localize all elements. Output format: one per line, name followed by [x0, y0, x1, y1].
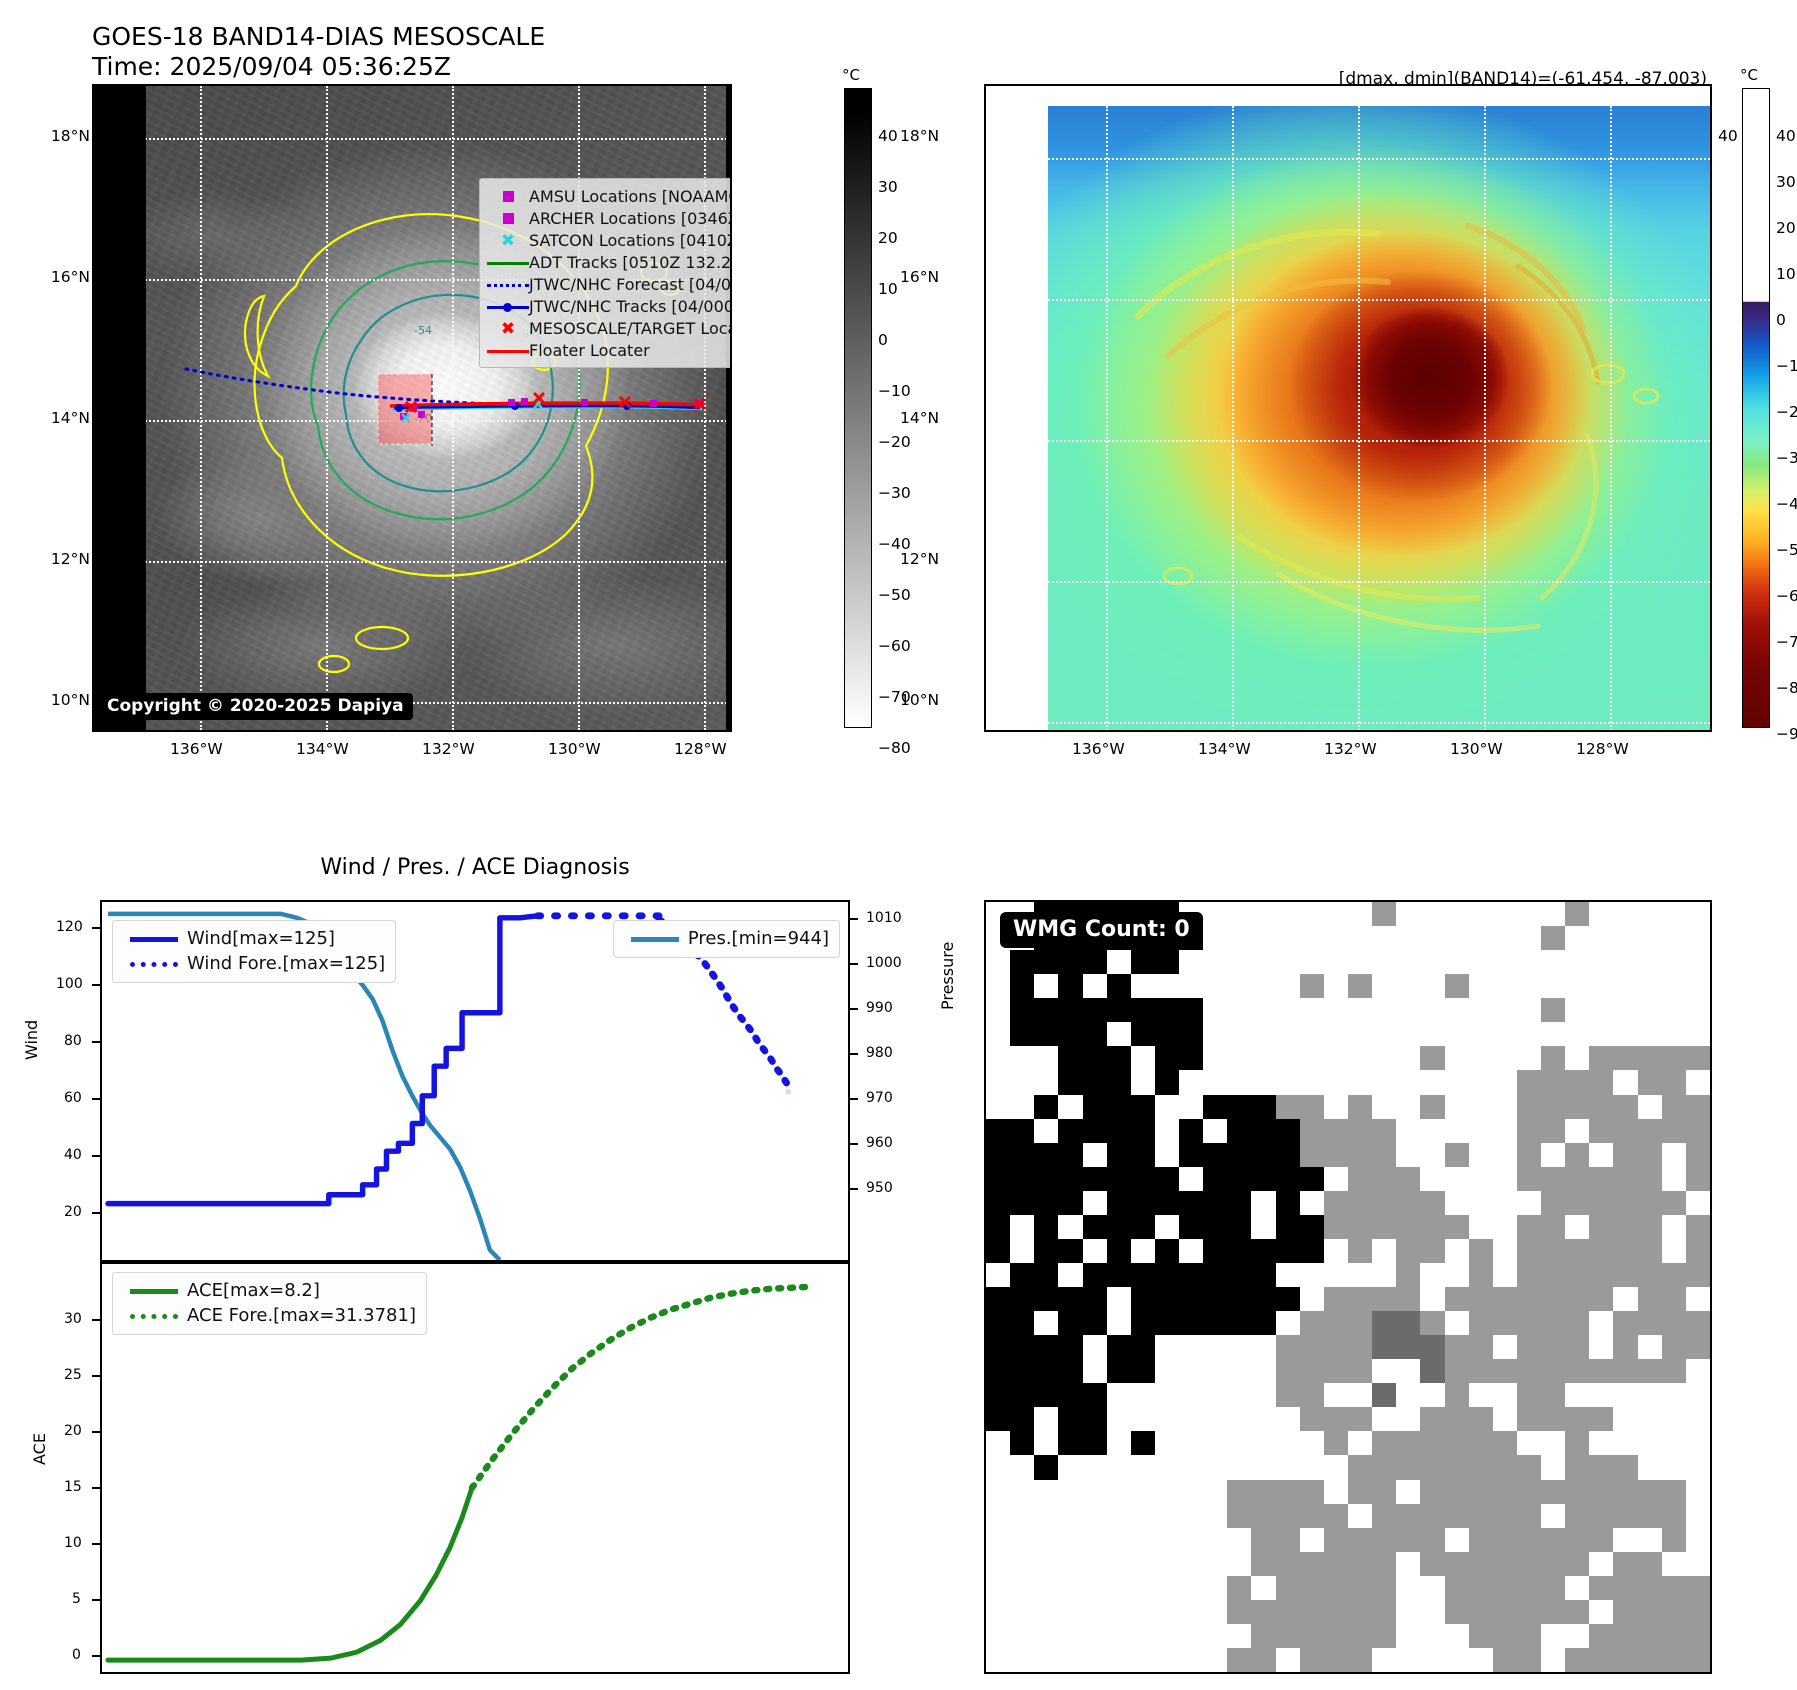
- colorbar1-unit: °C: [842, 66, 860, 84]
- p3-rtick-1000: [850, 963, 858, 965]
- p2-graticule-lon-134: [1232, 106, 1234, 732]
- legend-item-adt[interactable]: ADT Tracks [0510Z 132.2 935.3]: [487, 251, 732, 273]
- cb1-tick-m50: −50: [878, 586, 911, 604]
- dashboard-root: GOES-18 BAND14-DIAS MESOSCALE Time: 2025…: [0, 0, 1797, 1690]
- panel1-title-line1: GOES-18 BAND14-DIAS MESOSCALE: [92, 22, 545, 51]
- pressure-axis-label: Pressure: [938, 942, 957, 1010]
- p1-lon-136: 136°W: [170, 740, 223, 758]
- cb1-tick-m60: −60: [878, 637, 911, 655]
- p2-lat-16: 16°N: [900, 268, 939, 286]
- p2-lat-18: 18°N: [900, 127, 939, 145]
- p3-lbl-120: 120: [56, 919, 83, 935]
- wmg-count-badge: WMG Count: 0: [1000, 912, 1203, 948]
- legend-label-archer: ARCHER Locations [0346Z]: [529, 207, 732, 229]
- p2-graticule-lat-12: [1048, 581, 1712, 583]
- enhanced-ir-image: [1048, 106, 1712, 732]
- p3-rlbl-950: 950: [866, 1180, 893, 1196]
- p1-lon-132: 132°W: [422, 740, 475, 758]
- p3-lbl-20: 20: [64, 1204, 82, 1220]
- wmg-grid-panel[interactable]: WMG Count: 0: [984, 900, 1712, 1674]
- p3-rtick-990: [850, 1008, 858, 1010]
- p1-lat-16: 16°N: [51, 268, 90, 286]
- p4-lbl-0: 0: [72, 1647, 81, 1663]
- p4-tick-30: [92, 1319, 100, 1321]
- cb1-tick-m20: −20: [878, 433, 911, 451]
- legend-label-wind: Wind[max=125]: [187, 926, 385, 951]
- cb2-tick-m40: −40: [1776, 495, 1797, 513]
- p1-lat-10: 10°N: [51, 691, 90, 709]
- cb2-tick-m60: −60: [1776, 587, 1797, 605]
- goes-ir-map-panel[interactable]: -54 -64 -70: [92, 84, 732, 732]
- p4-lbl-20: 20: [64, 1423, 82, 1439]
- wind-legend[interactable]: Wind[max=125] Wind Fore.[max=125]: [112, 920, 396, 983]
- legend-label-pressure: Pres.[min=944]: [688, 926, 829, 951]
- panel1-title-line2: Time: 2025/09/04 05:36:25Z: [92, 52, 451, 81]
- p2-lon-136: 136°W: [1072, 740, 1125, 758]
- legend-label-jtwc-tracks: JTWC/NHC Tracks [04/0000Z]: [529, 295, 732, 317]
- x-marker-icon: ✖: [501, 319, 515, 339]
- ace-chart[interactable]: ACE[max=8.2] ACE Fore.[max=31.3781]: [100, 1262, 850, 1674]
- cb2-tick-20: 20: [1776, 219, 1796, 237]
- legend-label-adt: ADT Tracks [0510Z 132.2 935.3]: [529, 251, 732, 273]
- legend-item-pressure[interactable]: Pres.[min=944]: [622, 926, 829, 951]
- copyright-badge: Copyright © 2020-2025 Dapiya: [98, 693, 413, 720]
- legend-item-wind[interactable]: Wind[max=125]: [121, 926, 385, 951]
- p1-lat-18: 18°N: [51, 127, 90, 145]
- cb2-tick-30: 30: [1776, 173, 1796, 191]
- enhanced-ir-map-panel[interactable]: [984, 84, 1712, 732]
- p2-graticule-lat-16: [1048, 299, 1712, 301]
- legend-label-wind-forecast: Wind Fore.[max=125]: [187, 951, 385, 976]
- p4-lbl-15: 15: [64, 1479, 82, 1495]
- cb1-tick-40: 40: [878, 127, 898, 145]
- legend-label-target: MESOSCALE/TARGET Location: [529, 317, 732, 339]
- p3-rlbl-1010: 1010: [866, 910, 902, 926]
- p2-lat-14: 14°N: [900, 409, 939, 427]
- p3-tick-100: [92, 984, 100, 986]
- cb1-tick-m10: −10: [878, 382, 911, 400]
- p2-lat-10: 10°N: [900, 691, 939, 709]
- pressure-legend[interactable]: Pres.[min=944]: [613, 920, 840, 958]
- p2-lon-132: 132°W: [1324, 740, 1377, 758]
- p1-lon-128: 128°W: [674, 740, 727, 758]
- cb2-tick-m70: −70: [1776, 633, 1797, 651]
- legend-item-archer[interactable]: ARCHER Locations [0346Z]: [487, 207, 732, 229]
- legend-item-ace[interactable]: ACE[max=8.2]: [121, 1278, 416, 1303]
- x-marker-icon: ✖: [501, 231, 515, 251]
- cb1-tick-m30: −30: [878, 484, 911, 502]
- cb1-tick-0: 0: [878, 331, 888, 349]
- cb2-tick-m90: −90: [1776, 725, 1797, 743]
- p2-lat-12: 12°N: [900, 550, 939, 568]
- p4-tick-15: [92, 1487, 100, 1489]
- p4-tick-0: [92, 1655, 100, 1657]
- p4-tick-20: [92, 1431, 100, 1433]
- ace-legend[interactable]: ACE[max=8.2] ACE Fore.[max=31.3781]: [112, 1272, 427, 1335]
- p2-graticule-lon-128: [1610, 106, 1612, 732]
- legend-item-amsu[interactable]: AMSU Locations [NOAAMC/1815Z 104 973]: [487, 185, 732, 207]
- cb1-tick-20: 20: [878, 229, 898, 247]
- p2-graticule-lat-10: [1048, 722, 1712, 724]
- legend-item-target[interactable]: ✖ MESOSCALE/TARGET Location: [487, 317, 732, 339]
- p4-lbl-30: 30: [64, 1311, 82, 1327]
- p1-lon-134: 134°W: [296, 740, 349, 758]
- legend-label-floater: Floater Locater: [529, 339, 732, 361]
- colorbar-bd-enhanced: [1742, 88, 1770, 728]
- p3-tick-80: [92, 1041, 100, 1043]
- p3-tick-120: [92, 927, 100, 929]
- p4-tick-25: [92, 1375, 100, 1377]
- p3-rtick-1010: [850, 918, 858, 920]
- p3-rtick-960: [850, 1143, 858, 1145]
- p2-graticule-lat-14: [1048, 440, 1712, 442]
- p4-lbl-10: 10: [64, 1535, 82, 1551]
- p2-lon-134: 134°W: [1198, 740, 1251, 758]
- p1-lat-14: 14°N: [51, 409, 90, 427]
- wmg-cell-grid: [986, 902, 1710, 1672]
- legend-item-jtwc-tracks[interactable]: JTWC/NHC Tracks [04/0000Z]: [487, 295, 732, 317]
- cb2-tick-m80: −80: [1776, 679, 1797, 697]
- colorbar-grayscale: [844, 88, 872, 728]
- legend-label-satcon: SATCON Locations [0410Z 127 946]: [529, 229, 732, 251]
- p4-tick-10: [92, 1543, 100, 1545]
- cb2-tick-m30: −30: [1776, 449, 1797, 467]
- cb2-tick-m20: −20: [1776, 403, 1797, 421]
- map-legend[interactable]: AMSU Locations [NOAAMC/1815Z 104 973] AR…: [479, 178, 732, 368]
- p4-lbl-25: 25: [64, 1367, 82, 1383]
- p2-graticule-lon-136: [1106, 106, 1108, 732]
- p3-rlbl-990: 990: [866, 1000, 893, 1016]
- p3-tick-40: [92, 1155, 100, 1157]
- p2-graticule-lon-132: [1358, 106, 1360, 732]
- legend-label-amsu: AMSU Locations [NOAAMC/1815Z 104 973]: [529, 185, 732, 207]
- legend-item-ace-forecast[interactable]: ACE Fore.[max=31.3781]: [121, 1303, 416, 1328]
- p2-graticule-lat-18: [1048, 158, 1712, 160]
- p3-tick-60: [92, 1098, 100, 1100]
- p1-lat-12: 12°N: [51, 550, 90, 568]
- ace-axis-label: ACE: [30, 1433, 49, 1465]
- p2-lon-128: 128°W: [1576, 740, 1629, 758]
- ir-banding: [1048, 106, 1712, 732]
- cb2-tick-m10: −10: [1776, 357, 1797, 375]
- p3-rlbl-980: 980: [866, 1045, 893, 1061]
- wind-axis-label: Wind: [22, 1020, 41, 1060]
- legend-item-wind-forecast[interactable]: Wind Fore.[max=125]: [121, 951, 385, 976]
- p3-rlbl-1000: 1000: [866, 955, 902, 971]
- p3-rtick-950: [850, 1188, 858, 1190]
- cb2-tick-40b: 40: [1776, 127, 1796, 145]
- p3-lbl-100: 100: [56, 976, 83, 992]
- p1-lon-130: 130°W: [548, 740, 601, 758]
- legend-item-forecast[interactable]: JTWC/NHC Forecast [04/0000Z]: [487, 273, 732, 295]
- p3-rlbl-970: 970: [866, 1090, 893, 1106]
- legend-item-satcon[interactable]: ✖ SATCON Locations [0410Z 127 946]: [487, 229, 732, 251]
- legend-label-forecast: JTWC/NHC Forecast [04/0000Z]: [529, 273, 732, 295]
- p4-tick-5: [92, 1599, 100, 1601]
- cb2-tick-0: 0: [1776, 311, 1786, 329]
- legend-label-ace-forecast: ACE Fore.[max=31.3781]: [187, 1303, 416, 1328]
- colorbar2-unit: °C: [1740, 66, 1758, 84]
- cb2-tick-10: 10: [1776, 265, 1796, 283]
- p3-lbl-80: 80: [64, 1033, 82, 1049]
- legend-label-ace: ACE[max=8.2]: [187, 1278, 416, 1303]
- p2-graticule-lon-130: [1484, 106, 1486, 732]
- legend-item-floater[interactable]: Floater Locater: [487, 339, 732, 361]
- p3-lbl-40: 40: [64, 1147, 82, 1163]
- p2-lon-130: 130°W: [1450, 740, 1503, 758]
- p3-rlbl-960: 960: [866, 1135, 893, 1151]
- p3-lbl-60: 60: [64, 1090, 82, 1106]
- cb2-tick-m50: −50: [1776, 541, 1797, 559]
- cb1-tick-10: 10: [878, 280, 898, 298]
- p3-rtick-980: [850, 1053, 858, 1055]
- cb1-tick-30: 30: [878, 178, 898, 196]
- p3-tick-20: [92, 1212, 100, 1214]
- wind-pres-ace-title: Wind / Pres. / ACE Diagnosis: [100, 855, 850, 880]
- cb1-tick-m80: −80: [878, 739, 911, 757]
- p3-rtick-970: [850, 1098, 858, 1100]
- wind-pressure-chart[interactable]: Wind[max=125] Wind Fore.[max=125] Pres.[…: [100, 900, 850, 1262]
- p4-lbl-5: 5: [72, 1591, 81, 1607]
